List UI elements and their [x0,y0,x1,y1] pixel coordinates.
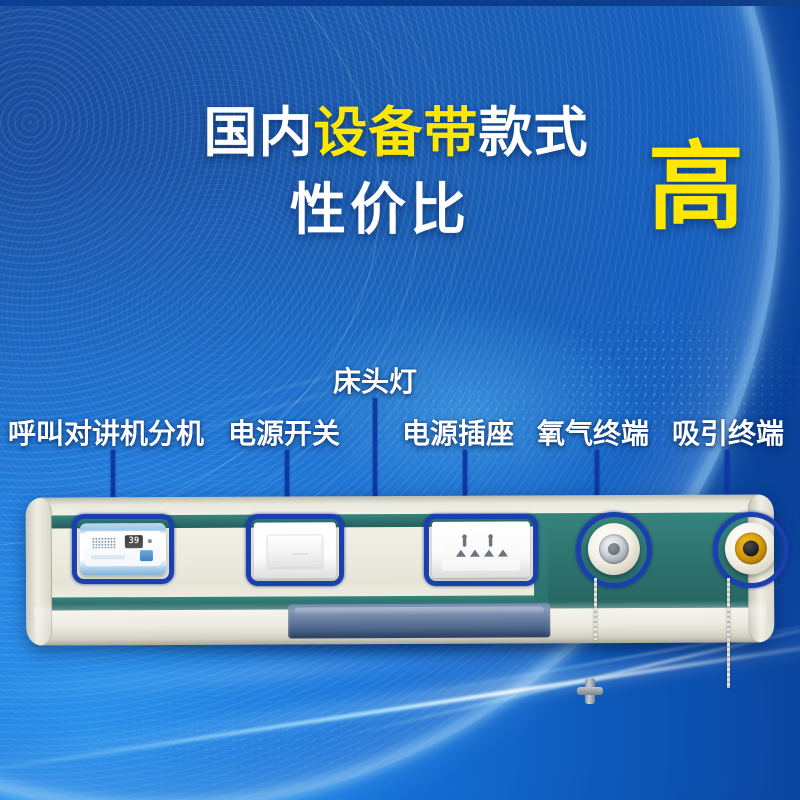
headline-part-3: 款式 [479,103,589,163]
headline-emphasis: 高 [648,140,744,236]
callout-label-power-switch: 电源开关 [228,412,340,452]
top-edge-strip [0,0,800,6]
highlight-box-intercom [72,514,174,584]
headline-line-2: 性价比 [60,165,700,246]
callout-label-suction-terminal: 吸引终端 [672,412,784,452]
center-glow [300,300,640,520]
callout-label-oxygen-terminal: 氧气终端 [537,412,649,452]
bed-lamp-gloss [294,606,544,615]
headline-part-2: 设备带 [314,103,479,163]
highlight-circle-oxygen [576,512,652,588]
highlight-box-power-switch [246,514,344,586]
bed-head-unit-panel: 39 [26,496,774,644]
callout-label-bed-lamp: 床头灯 [333,360,417,400]
panel-end-cap-left [26,498,53,646]
callout-label-power-socket: 电源插座 [402,412,514,452]
headline-part-1: 国内 [204,103,314,163]
pull-cord-suction [727,578,730,688]
highlight-circle-suction [713,512,789,588]
pull-cord-oxygen [594,578,597,640]
callout-label-intercom: 呼叫对讲机分机 [8,412,204,452]
pull-cord-hook [585,678,595,704]
highlight-box-power-socket [424,514,538,586]
